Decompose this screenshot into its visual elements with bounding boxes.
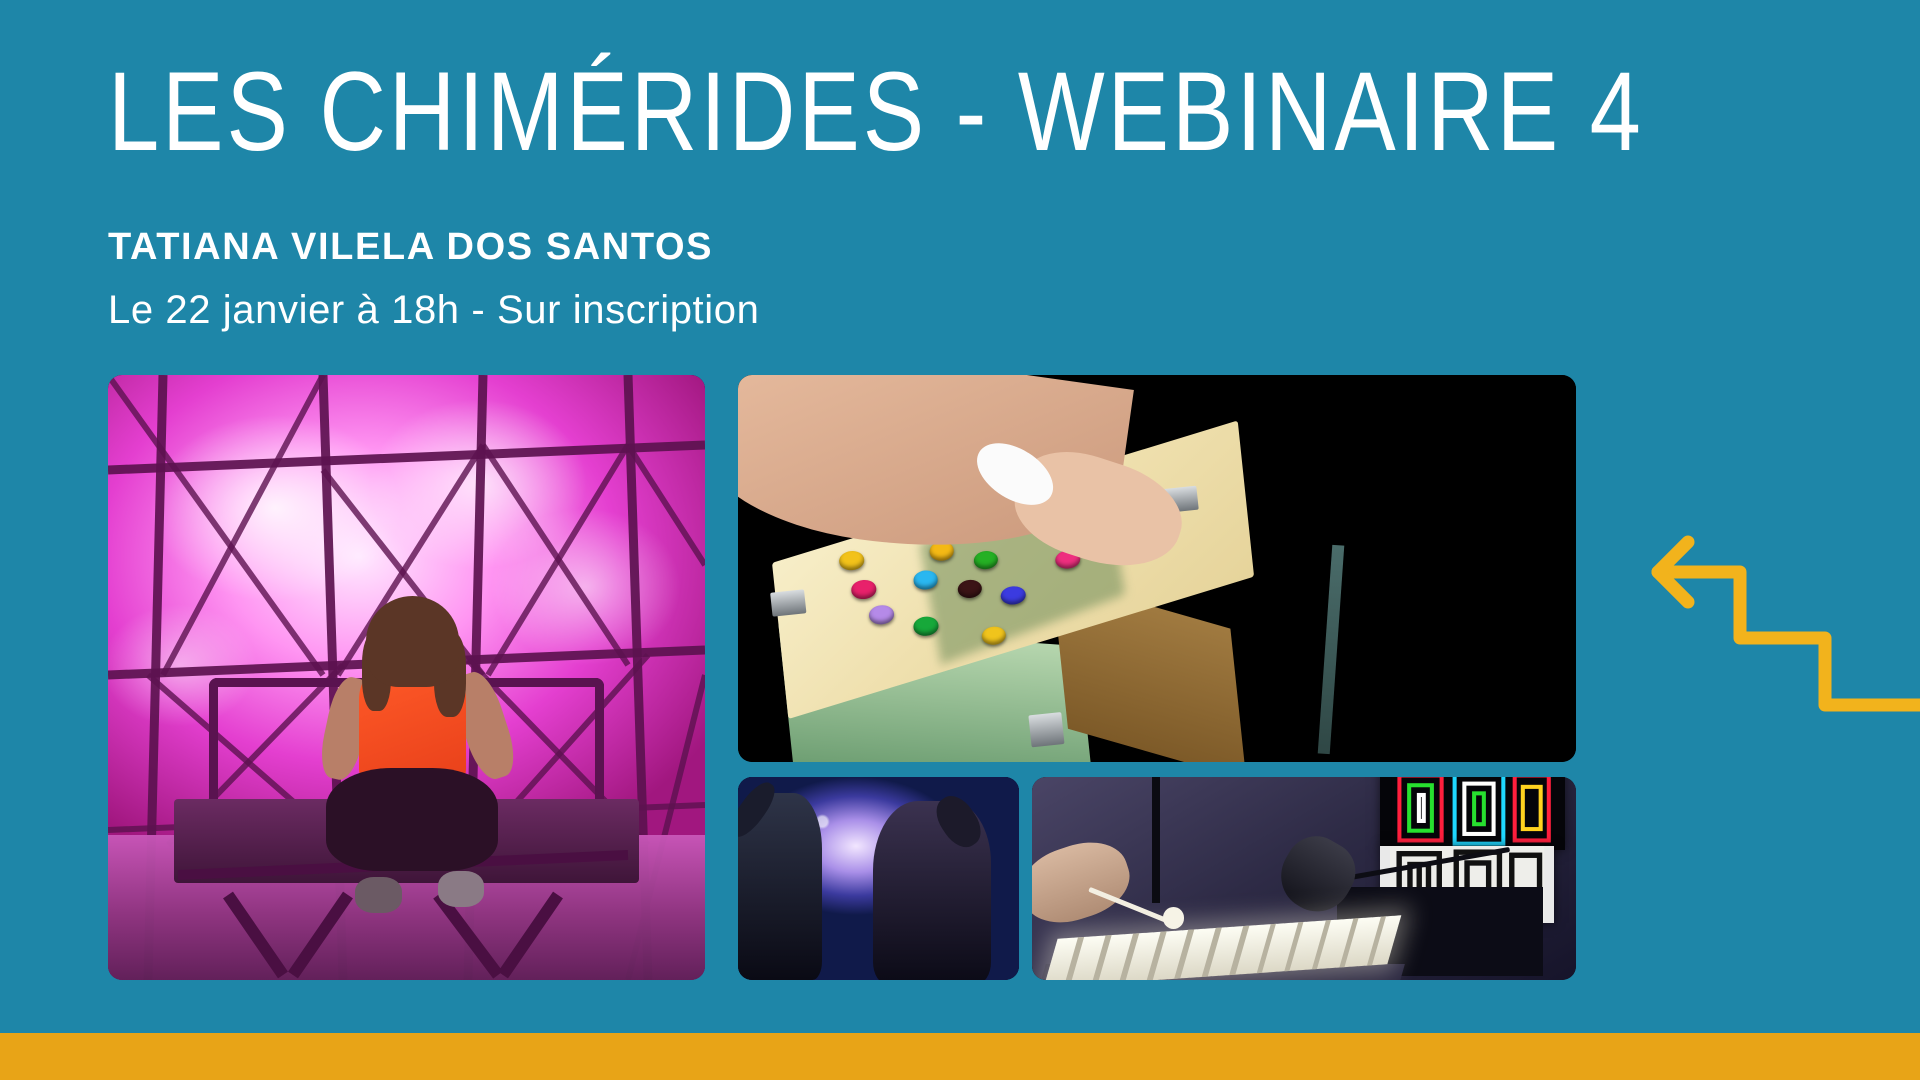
plinth-corner-bracket [770, 589, 806, 617]
silhouette-person-right [873, 801, 991, 980]
bottom-accent-bar [0, 1033, 1920, 1080]
mallet-head [1163, 907, 1185, 929]
person-hair-top [366, 596, 459, 687]
photo-mallet-keyboard [1032, 777, 1576, 980]
speaker-name: TATIANA VILELA DOS SANTOS [108, 226, 713, 269]
microphone-stand [1152, 777, 1160, 903]
photo-pink-geometric-room [108, 375, 705, 980]
photo-button-plinth [738, 375, 1576, 762]
page-title: LES CHIMÉRIDES - WEBINAIRE 4 [108, 56, 1608, 168]
zigzag-arrow-left-icon [1650, 520, 1920, 720]
silhouette-person-left [738, 793, 822, 980]
title-block: LES CHIMÉRIDES - WEBINAIRE 4 TATIANA VIL… [108, 56, 1608, 148]
event-date-line: Le 22 janvier à 18h - Sur inscription [108, 288, 759, 333]
photo-nebula-silhouettes [738, 777, 1019, 980]
person-crossed-legs [326, 768, 498, 871]
person-left-shoe [355, 877, 402, 913]
person-right-shoe [438, 871, 485, 907]
photo-gallery [108, 375, 1576, 980]
plinth-corner-bracket [1028, 712, 1065, 748]
seated-person [323, 605, 502, 908]
led-maze-cube [1380, 777, 1565, 850]
